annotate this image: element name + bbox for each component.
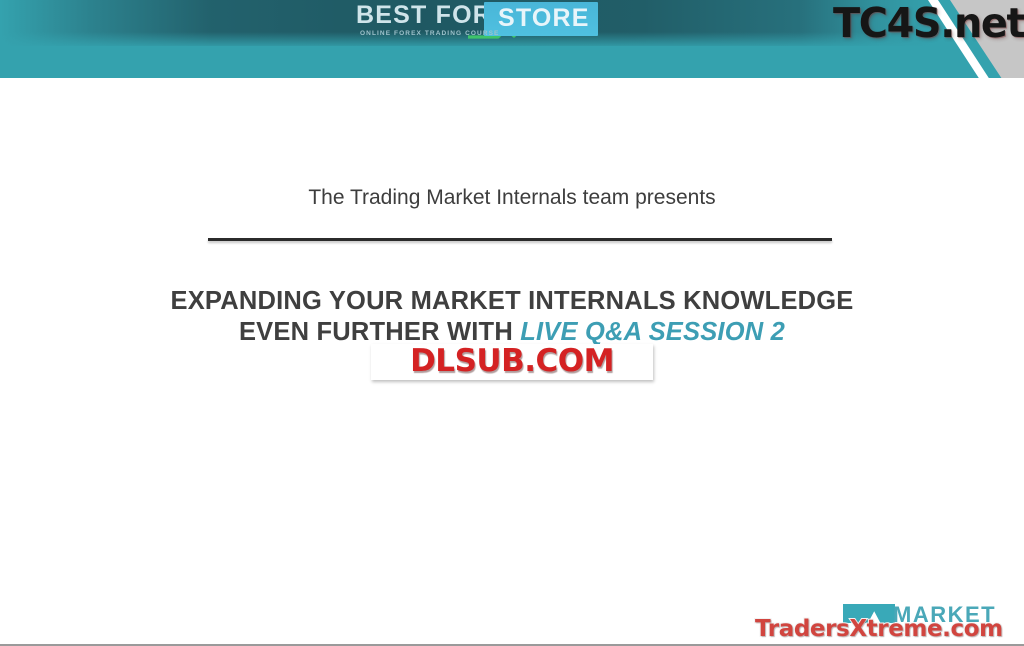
top-banner: BEST FOREX STORE ONLINE FOREX TRADING CO… xyxy=(0,0,1024,78)
best-forex-store-logo: BEST FOREX STORE ONLINE FOREX TRADING CO… xyxy=(356,1,666,45)
slide-body: The Trading Market Internals team presen… xyxy=(0,78,1024,576)
title-divider xyxy=(208,238,832,241)
slide-title-line1: EXPANDING YOUR MARKET INTERNALS KNOWLEDG… xyxy=(170,287,853,315)
logo-store-box: STORE xyxy=(484,2,598,36)
slide-subtitle: The Trading Market Internals team presen… xyxy=(0,186,1024,210)
watermark-dlsub: DLSUB.COM xyxy=(371,344,653,380)
watermark-tradersxtreme: TradersXtreme.com xyxy=(755,616,1003,642)
logo-word-store: STORE xyxy=(498,4,590,32)
logo-word-best: BEST xyxy=(356,1,427,29)
watermark-tc4s: TC4S.net xyxy=(833,0,1024,47)
logo-tagline: ONLINE FOREX TRADING COURSE xyxy=(360,30,499,37)
slide-title: EXPANDING YOUR MARKET INTERNALS KNOWLEDG… xyxy=(0,286,1024,348)
slide-title-line2-plain: EVEN FURTHER WITH xyxy=(239,318,520,346)
slide-title-line2-accent: LIVE Q&A SESSION 2 xyxy=(520,318,785,346)
watermark-dlsub-text: DLSUB.COM xyxy=(371,343,653,379)
